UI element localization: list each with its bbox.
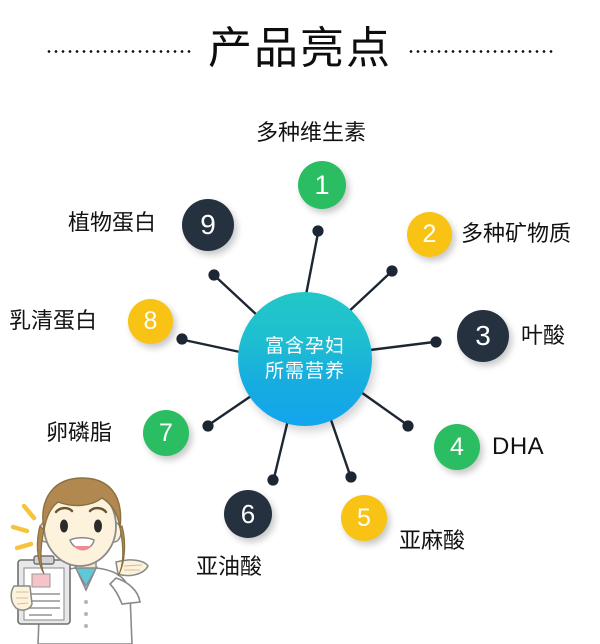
header-rule-left: [44, 50, 194, 53]
badge-3-number: 3: [475, 320, 491, 352]
label-8: 乳清蛋白: [9, 308, 97, 334]
spoke-line-1: [305, 233, 318, 300]
badge-1-number: 1: [314, 170, 329, 201]
eye-left: [60, 520, 68, 533]
label-3: 叶酸: [521, 323, 565, 349]
badge-4-number: 4: [450, 433, 464, 462]
badge-7[interactable]: 7: [143, 410, 189, 456]
badge-8-number: 8: [144, 307, 158, 336]
spoke-line-6: [274, 420, 288, 478]
label-1: 多种维生素: [256, 120, 366, 146]
center-hub: 富含孕妇 所需营养: [238, 292, 372, 426]
badge-4[interactable]: 4: [434, 424, 480, 470]
spoke-dot-1: [314, 227, 323, 236]
spoke-line-5: [330, 417, 350, 475]
coat-button: [84, 600, 88, 604]
badge-9-number: 9: [200, 209, 216, 241]
spoke-dot-3: [432, 338, 441, 347]
spoke-dot-9: [210, 271, 219, 280]
badge-1[interactable]: 1: [298, 161, 346, 209]
spoke-line-7: [210, 394, 254, 424]
badge-7-number: 7: [159, 419, 173, 448]
spoke-dot-7: [204, 422, 213, 431]
spoke-dot-6: [269, 476, 278, 485]
spoke-line-4: [358, 390, 406, 424]
label-7: 卵磷脂: [46, 420, 112, 446]
label-5: 亚麻酸: [399, 528, 465, 554]
spoke-line-9: [216, 277, 258, 316]
spoke-dot-5: [347, 473, 356, 482]
spoke-dot-4: [404, 422, 413, 431]
spoke-line-8: [184, 340, 240, 352]
coat-button: [84, 624, 88, 628]
spoke-line-3: [370, 342, 434, 350]
hub-line-1: 富含孕妇: [265, 334, 345, 359]
badge-2-number: 2: [423, 220, 437, 249]
spoke-dot-2: [388, 267, 397, 276]
spoke-dot-8: [178, 335, 187, 344]
badge-6[interactable]: 6: [224, 490, 272, 538]
badge-8[interactable]: 8: [128, 299, 173, 344]
badge-5-number: 5: [357, 504, 371, 533]
badge-5[interactable]: 5: [341, 495, 387, 541]
badge-3[interactable]: 3: [457, 310, 509, 362]
badge-6-number: 6: [241, 499, 255, 530]
eye-right: [94, 520, 102, 533]
coat-button: [84, 612, 88, 616]
badge-9[interactable]: 9: [182, 199, 234, 251]
female-doctor-illustration: [4, 474, 156, 644]
badge-2[interactable]: 2: [407, 212, 452, 257]
label-6: 亚油酸: [196, 554, 262, 580]
label-9: 植物蛋白: [68, 210, 156, 236]
page-title: 产品亮点: [208, 27, 392, 71]
header-rule-right: [406, 50, 556, 53]
infographic-canvas: 产品亮点: [0, 0, 600, 644]
page-header: 产品亮点: [0, 14, 600, 84]
label-4: DHA: [492, 434, 544, 460]
sparkle-icon: [13, 506, 34, 548]
label-2: 多种矿物质: [461, 221, 571, 247]
spoke-line-2: [345, 273, 390, 315]
hub-line-2: 所需营养: [265, 359, 345, 384]
